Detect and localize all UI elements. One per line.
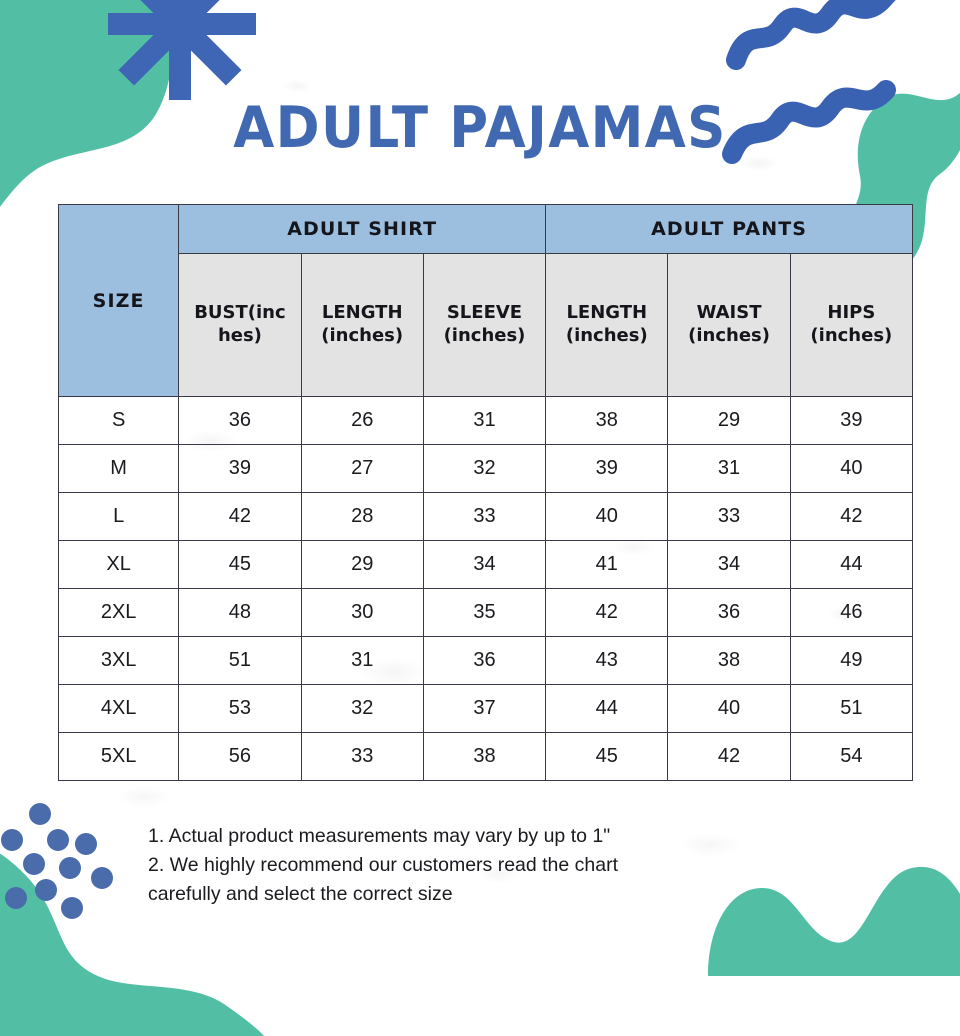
table-row: 4XL533237444051 (59, 685, 913, 733)
cell-2xl-col3: 35 (423, 589, 545, 637)
table-row: L422833403342 (59, 493, 913, 541)
cell-5xl-col1: 56 (179, 733, 301, 781)
column-header-bust-line2: hes) (179, 325, 300, 348)
cell-5xl-col2: 33 (301, 733, 423, 781)
cell-m-col1: 39 (179, 445, 301, 493)
column-header-shirt-length-line2: (inches) (302, 325, 423, 348)
cell-s-col5: 29 (668, 397, 790, 445)
cell-3xl-col4: 43 (546, 637, 668, 685)
column-header-waist-line1: WAIST (668, 302, 789, 325)
group-header-row: SIZE ADULT SHIRT ADULT PANTS (59, 205, 913, 254)
cell-m-col6: 40 (790, 445, 912, 493)
note-line-3: carefully and select the correct size (148, 880, 808, 909)
cell-xl-col4: 41 (546, 541, 668, 589)
column-header-sleeve-line2: (inches) (424, 325, 545, 348)
cell-xl-col6: 44 (790, 541, 912, 589)
column-header-shirt-length: LENGTH (inches) (301, 254, 423, 397)
cell-l-col3: 33 (423, 493, 545, 541)
page-title: ADULT PAJAMAS (34, 95, 927, 161)
notes-block: 1. Actual product measurements may vary … (148, 822, 808, 909)
cell-3xl-col3: 36 (423, 637, 545, 685)
cell-2xl-col2: 30 (301, 589, 423, 637)
cell-5xl-col6: 54 (790, 733, 912, 781)
cell-3xl-col1: 51 (179, 637, 301, 685)
cell-s-col2: 26 (301, 397, 423, 445)
cell-4xl-col5: 40 (668, 685, 790, 733)
group-header-adult-shirt: ADULT SHIRT (179, 205, 546, 254)
group-header-adult-pants: ADULT PANTS (546, 205, 913, 254)
row-size-label: XL (59, 541, 179, 589)
column-header-waist-line2: (inches) (668, 325, 789, 348)
cell-m-col3: 32 (423, 445, 545, 493)
cell-l-col1: 42 (179, 493, 301, 541)
column-header-pants-length: LENGTH (inches) (546, 254, 668, 397)
table-body: S362631382939M392732393140L422833403342X… (59, 397, 913, 781)
column-header-pants-length-line2: (inches) (546, 325, 667, 348)
column-header-hips-line1: HIPS (791, 302, 912, 325)
column-header-bust-line1: BUST(inc (179, 302, 300, 325)
cell-2xl-col5: 36 (668, 589, 790, 637)
cell-3xl-col5: 38 (668, 637, 790, 685)
cell-2xl-col6: 46 (790, 589, 912, 637)
row-size-label: 4XL (59, 685, 179, 733)
table-row: XL452934413444 (59, 541, 913, 589)
column-header-sleeve-line1: SLEEVE (424, 302, 545, 325)
table-row: M392732393140 (59, 445, 913, 493)
cell-2xl-col4: 42 (546, 589, 668, 637)
column-header-pants-length-line1: LENGTH (546, 302, 667, 325)
cell-m-col4: 39 (546, 445, 668, 493)
table-row: 2XL483035423646 (59, 589, 913, 637)
column-header-shirt-length-line1: LENGTH (302, 302, 423, 325)
column-header-hips-line2: (inches) (791, 325, 912, 348)
cell-4xl-col3: 37 (423, 685, 545, 733)
cell-l-col4: 40 (546, 493, 668, 541)
cell-5xl-col4: 45 (546, 733, 668, 781)
size-chart-table: SIZE ADULT SHIRT ADULT PANTS BUST(inc he… (58, 204, 913, 781)
row-size-label: S (59, 397, 179, 445)
cell-m-col2: 27 (301, 445, 423, 493)
cell-xl-col3: 34 (423, 541, 545, 589)
row-size-label: 3XL (59, 637, 179, 685)
table-row: 3XL513136433849 (59, 637, 913, 685)
note-line-2: 2. We highly recommend our customers rea… (148, 851, 808, 880)
cell-5xl-col5: 42 (668, 733, 790, 781)
row-size-label: 5XL (59, 733, 179, 781)
cell-s-col3: 31 (423, 397, 545, 445)
table-row: S362631382939 (59, 397, 913, 445)
row-size-label: L (59, 493, 179, 541)
cell-l-col6: 42 (790, 493, 912, 541)
table-header: SIZE ADULT SHIRT ADULT PANTS BUST(inc he… (59, 205, 913, 397)
cell-m-col5: 31 (668, 445, 790, 493)
column-header-hips: HIPS (inches) (790, 254, 912, 397)
cell-s-col4: 38 (546, 397, 668, 445)
cell-4xl-col1: 53 (179, 685, 301, 733)
cell-l-col5: 33 (668, 493, 790, 541)
cell-s-col1: 36 (179, 397, 301, 445)
cell-xl-col2: 29 (301, 541, 423, 589)
column-header-bust: BUST(inc hes) (179, 254, 301, 397)
cell-xl-col1: 45 (179, 541, 301, 589)
size-column-header: SIZE (59, 205, 179, 397)
cell-l-col2: 28 (301, 493, 423, 541)
column-header-row: BUST(inc hes) LENGTH (inches) SLEEVE (in… (59, 254, 913, 397)
cell-s-col6: 39 (790, 397, 912, 445)
column-header-waist: WAIST (inches) (668, 254, 790, 397)
cell-5xl-col3: 38 (423, 733, 545, 781)
cell-4xl-col4: 44 (546, 685, 668, 733)
row-size-label: 2XL (59, 589, 179, 637)
column-header-sleeve: SLEEVE (inches) (423, 254, 545, 397)
note-line-1: 1. Actual product measurements may vary … (148, 822, 808, 851)
cell-2xl-col1: 48 (179, 589, 301, 637)
cell-3xl-col6: 49 (790, 637, 912, 685)
row-size-label: M (59, 445, 179, 493)
blue-asterisk-icon (108, 0, 258, 106)
cell-3xl-col2: 31 (301, 637, 423, 685)
table-row: 5XL563338454254 (59, 733, 913, 781)
cell-4xl-col2: 32 (301, 685, 423, 733)
cell-4xl-col6: 51 (790, 685, 912, 733)
cell-xl-col5: 34 (668, 541, 790, 589)
